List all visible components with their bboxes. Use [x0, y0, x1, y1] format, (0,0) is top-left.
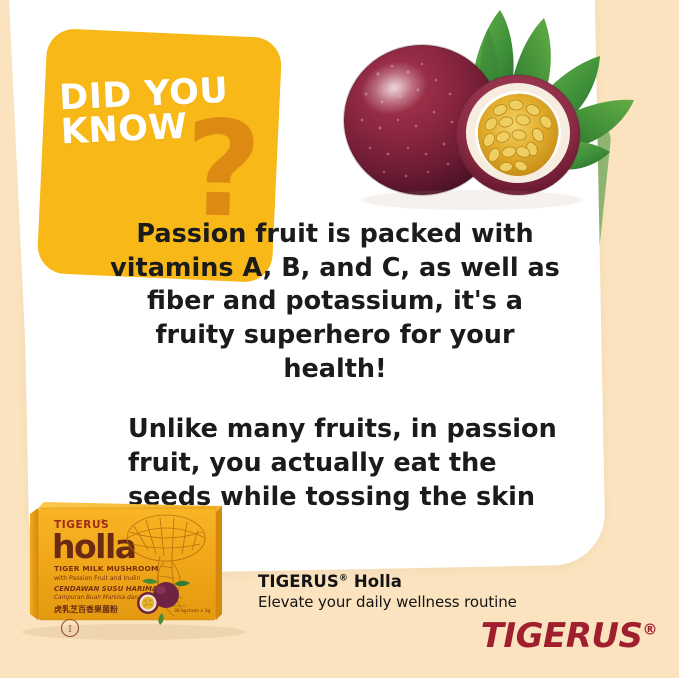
product-box-image: TIGERUS ® holla TIGER MILK MUSHROOM with…	[14, 482, 262, 642]
question-mark-icon: ?	[183, 103, 263, 237]
svg-text:CENDAWAN SUSU HARIMAU: CENDAWAN SUSU HARIMAU	[54, 585, 163, 593]
svg-text:holla: holla	[52, 527, 136, 566]
tigerus-brand-logo: TIGERUS®	[481, 616, 657, 656]
registered-mark: ®	[339, 574, 348, 584]
brand-logo-text: TIGERUS	[481, 616, 643, 656]
halved-passion-fruit	[456, 75, 580, 195]
paragraph-one: Passion fruit is packed with vitamins A,…	[110, 218, 560, 386]
product-caption-subtitle: Elevate your daily wellness routine	[258, 593, 517, 611]
svg-text:30 sachets x 3g: 30 sachets x 3g	[174, 608, 211, 614]
product-caption-name: Holla	[348, 572, 402, 591]
svg-text:®: ®	[100, 518, 105, 525]
product-caption-brand: TIGERUS	[258, 572, 339, 591]
svg-text:虎乳芝百香果菌粉: 虎乳芝百香果菌粉	[54, 604, 118, 614]
svg-text:TIGER MILK MUSHROOM: TIGER MILK MUSHROOM	[54, 564, 159, 573]
product-caption: TIGERUS® Holla Elevate your daily wellne…	[258, 572, 517, 611]
svg-text:with Passion Fruit and Inulin: with Passion Fruit and Inulin	[54, 575, 141, 582]
infographic-canvas: DID YOU KNOW ?	[0, 0, 679, 678]
passion-fruit-illustration	[322, 2, 662, 217]
brand-logo-registered-mark: ®	[643, 621, 658, 639]
svg-text:I: I	[68, 625, 72, 635]
product-caption-title: TIGERUS® Holla	[258, 572, 517, 591]
